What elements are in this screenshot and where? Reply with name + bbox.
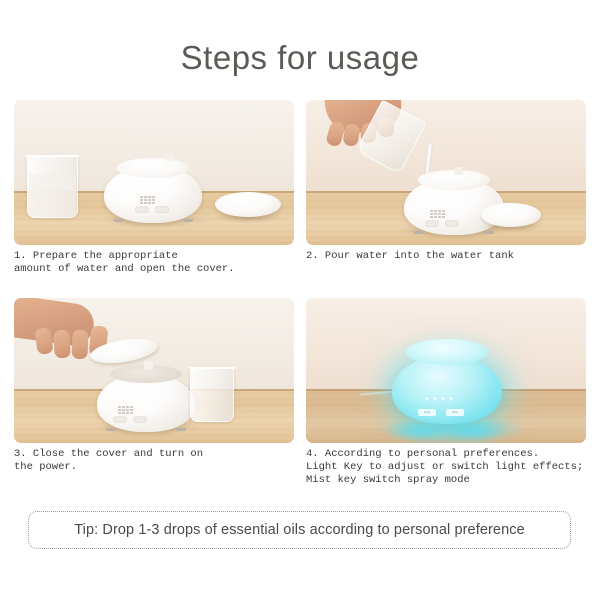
mist-nozzle — [144, 361, 153, 370]
step-2-photo — [306, 100, 586, 245]
vent-dot — [140, 196, 143, 198]
vent-indicator-grid — [430, 210, 445, 218]
vent-dot — [438, 216, 441, 218]
step-3-caption: 3. Close the cover and turn on the power… — [14, 448, 294, 474]
vent-dot — [118, 409, 121, 411]
vent-dot — [438, 213, 441, 215]
vent-indicator-grid — [118, 406, 133, 414]
diffuser-foot-left — [114, 219, 124, 222]
diffuser-cover — [117, 158, 189, 178]
vent-dot — [130, 412, 133, 414]
vent-dot — [122, 406, 125, 408]
usage-steps-infographic: Steps for usage — [0, 0, 600, 600]
vent-dot — [130, 409, 133, 411]
vent-dot — [152, 199, 155, 201]
vent-dot — [122, 409, 125, 411]
diffuser-foot-right — [176, 428, 186, 431]
vent-dot — [144, 202, 147, 204]
diffuser-cover-glowing — [406, 339, 488, 365]
page-title: Steps for usage — [0, 38, 600, 78]
vent-dot — [152, 196, 155, 198]
vent-dot — [430, 216, 433, 218]
vent-indicator-grid — [140, 196, 155, 204]
measuring-cup-water — [29, 174, 76, 217]
vent-dot — [442, 213, 445, 215]
vent-dot — [144, 199, 147, 201]
vent-dot — [434, 210, 437, 212]
mist-nozzle — [166, 154, 174, 161]
table-glow-right — [448, 422, 504, 440]
vent-dot — [144, 196, 147, 198]
vent-dot — [118, 412, 121, 414]
mist-button[interactable] — [156, 207, 168, 212]
step-4-photo: Light Mist — [306, 298, 586, 443]
step-cell-4: Light Mist 4. According to personal pref… — [306, 298, 586, 490]
vent-dot — [434, 213, 437, 215]
step-3-photo — [14, 298, 294, 443]
vent-dot — [148, 202, 151, 204]
step-2-caption: 2. Pour water into the water tank — [306, 250, 586, 263]
vent-dot — [126, 409, 129, 411]
light-button[interactable] — [426, 221, 438, 226]
vent-dot — [122, 412, 125, 414]
light-button[interactable] — [114, 417, 126, 422]
tip-banner: Tip: Drop 1-3 drops of essential oils ac… — [28, 511, 571, 549]
vent-dot — [442, 210, 445, 212]
vent-dot — [148, 199, 151, 201]
step-4-caption: 4. According to personal preferences. Li… — [306, 448, 586, 487]
mist-button[interactable] — [446, 221, 458, 226]
diffuser-lid-on-table — [215, 192, 281, 217]
diffuser-foot-right — [183, 219, 193, 222]
tip-text: Tip: Drop 1-3 drops of essential oils ac… — [74, 522, 525, 538]
vent-dot — [442, 216, 445, 218]
vent-indicator-grid — [425, 397, 453, 400]
diffuser-foot-left — [414, 231, 424, 234]
diffuser-lid-on-table — [481, 203, 541, 227]
vent-dot — [434, 216, 437, 218]
vent-dot — [148, 196, 151, 198]
vent-dot — [126, 412, 129, 414]
vent-dot — [425, 397, 429, 400]
vent-dot — [438, 210, 441, 212]
diffuser-foot-left — [106, 428, 116, 431]
light-button[interactable]: Light — [418, 409, 436, 416]
diffuser-foot-right — [484, 231, 494, 234]
step-cell-1: 1. Prepare the appropriate amount of wat… — [14, 100, 294, 290]
step-cell-3: 3. Close the cover and turn on the power… — [14, 298, 294, 490]
vent-dot — [152, 202, 155, 204]
finger — [53, 330, 70, 359]
measuring-cup-rim — [189, 367, 235, 369]
mist-button[interactable] — [134, 417, 146, 422]
measuring-cup — [190, 368, 234, 422]
vent-dot — [140, 199, 143, 201]
vent-dot — [441, 397, 445, 400]
mist-button[interactable]: Mist — [446, 409, 464, 416]
vent-dot — [430, 210, 433, 212]
light-button[interactable] — [136, 207, 148, 212]
step-1-photo — [14, 100, 294, 245]
measuring-cup-rim — [26, 155, 79, 157]
vent-dot — [433, 397, 437, 400]
mist-nozzle — [454, 167, 463, 175]
vent-dot — [430, 213, 433, 215]
vent-dot — [140, 202, 143, 204]
step-1-caption: 1. Prepare the appropriate amount of wat… — [14, 250, 294, 276]
steps-grid: 1. Prepare the appropriate amount of wat… — [14, 100, 586, 490]
vent-dot — [118, 406, 121, 408]
vent-dot — [126, 406, 129, 408]
step-cell-2: 2. Pour water into the water tank — [306, 100, 586, 290]
table-glow-left — [390, 422, 446, 440]
vent-dot — [449, 397, 453, 400]
finger — [71, 330, 88, 360]
vent-dot — [130, 406, 133, 408]
